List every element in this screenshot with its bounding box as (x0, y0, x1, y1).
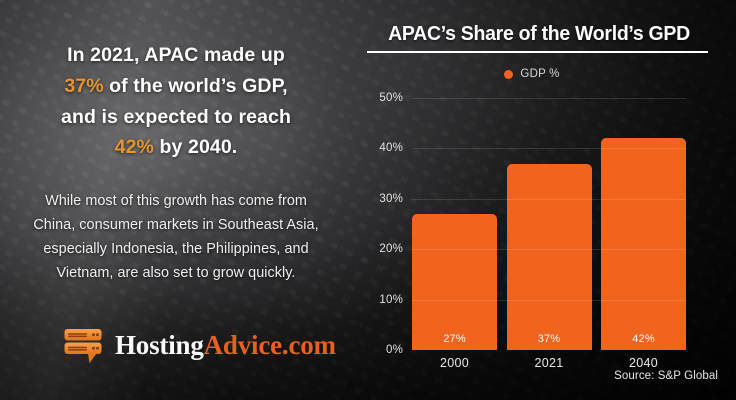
chart-title-underline (367, 51, 708, 53)
gridline (412, 148, 686, 149)
logo-text-hosting: Hosting (115, 330, 204, 360)
bar-slot: 42%2040 (601, 98, 686, 350)
headline-stat-37: 37% (64, 75, 103, 97)
headline-line-1: In 2021, APAC made up (67, 44, 285, 66)
bar-slot: 27%2000 (412, 98, 497, 350)
y-axis-tick-label: 40% (379, 142, 403, 154)
chart-panel: APAC’s Share of the World’s GPD GDP % 27… (352, 0, 736, 400)
gridline (412, 249, 686, 250)
gridline (412, 98, 686, 99)
headline-line-2: of the world’s GDP, (104, 75, 288, 97)
server-speech-bubble-icon (62, 325, 106, 365)
bar[interactable]: 37% (507, 164, 592, 350)
headline-line-3: and is expected to reach (61, 106, 291, 128)
headline-statement: In 2021, APAC made up 37% of the world’s… (16, 40, 336, 163)
gridline (412, 300, 686, 301)
bar-value-label: 42% (601, 333, 686, 345)
bar-value-label: 27% (412, 333, 497, 345)
gridline (412, 199, 686, 200)
x-axis-tick-label: 2040 (587, 356, 700, 370)
legend-label-gdp: GDP % (520, 68, 559, 80)
bar[interactable]: 27% (412, 214, 497, 350)
infographic-canvas: In 2021, APAC made up 37% of the world’s… (0, 0, 736, 400)
y-axis-tick-label: 50% (379, 92, 403, 104)
y-axis-tick-label: 20% (379, 243, 403, 255)
chart-legend: GDP % (352, 68, 712, 80)
chart-title: APAC’s Share of the World’s GPD (369, 22, 709, 46)
legend-marker-gdp (504, 70, 513, 79)
chart-source-note: Source: S&P Global (614, 370, 718, 382)
left-text-panel: In 2021, APAC made up 37% of the world’s… (0, 0, 352, 400)
headline-stat-42: 42% (115, 136, 154, 158)
y-axis-tick-label: 30% (379, 193, 403, 205)
body-paragraph: While most of this growth has come from … (26, 190, 326, 286)
bar[interactable]: 42% (601, 138, 686, 350)
hostingadvice-logo[interactable]: HostingAdvice.com (62, 325, 336, 365)
y-axis-tick-label: 10% (379, 294, 403, 306)
bar-slot: 37%2021 (507, 98, 592, 350)
y-axis-tick-label: 0% (386, 344, 403, 356)
logo-text-advice: Advice.com (204, 330, 336, 360)
logo-wordmark: HostingAdvice.com (115, 332, 336, 359)
headline-line-4: by 2040. (154, 136, 237, 158)
bar-group: 27%200037%202142%2040 (412, 98, 686, 350)
bar-value-label: 37% (507, 333, 592, 345)
chart-plot-area: 27%200037%202142%2040 0%10%20%30%40%50% (412, 98, 686, 350)
